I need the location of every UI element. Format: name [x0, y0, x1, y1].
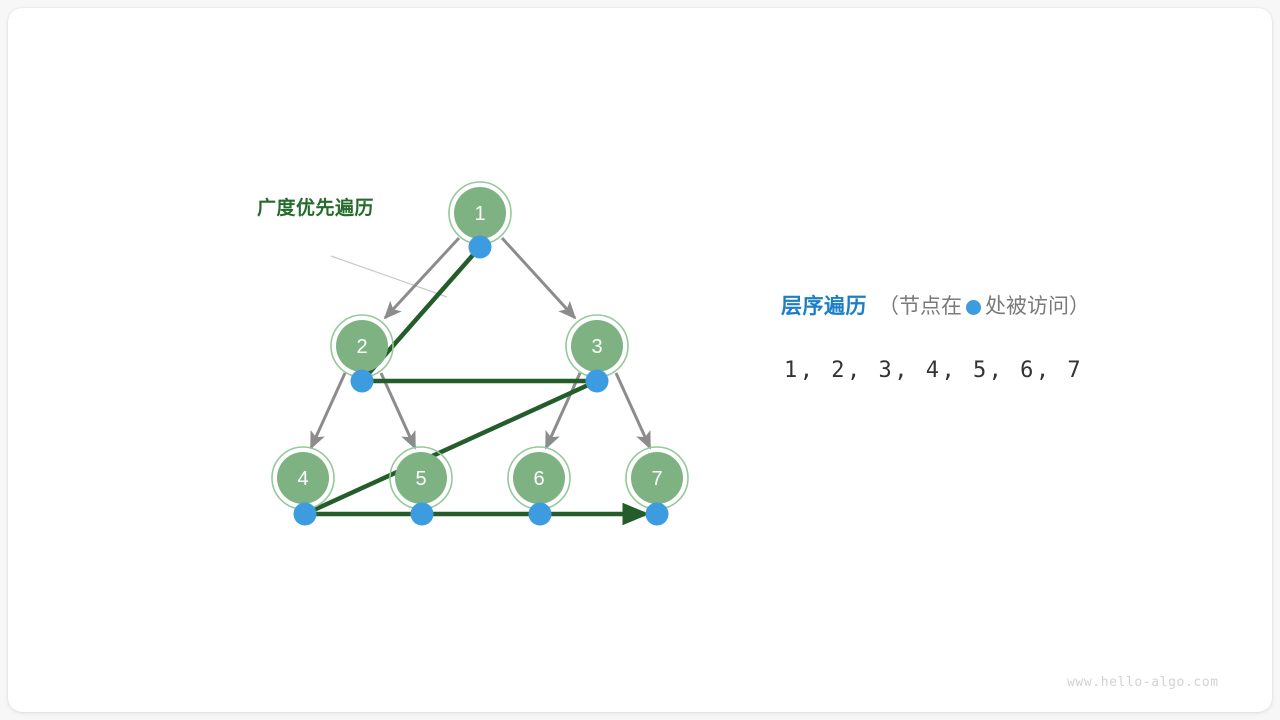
tree-edge-2-5 [381, 373, 415, 448]
traversal-result-panel: 层序遍历 （节点在 处被访问） 1, 2, 3, 4, 5, 6, 7 [781, 296, 1201, 317]
tree-node-7[interactable]: 7 [626, 447, 688, 509]
node-label: 6 [533, 468, 544, 490]
visit-marker-dot-icon [966, 300, 981, 315]
visit-dot-node-5[interactable] [411, 503, 434, 526]
node-label: 7 [651, 468, 662, 490]
note-text-after: 处被访问） [985, 296, 1090, 317]
site-watermark: www.hello-algo.com [1067, 675, 1219, 690]
node-label: 3 [591, 336, 602, 358]
note-text-before: （节点在 [878, 296, 962, 317]
bfs-annotation-label: 广度优先遍历 [257, 193, 374, 220]
tree-node-2[interactable]: 2 [331, 315, 393, 377]
tree-edge-1-3 [502, 238, 575, 318]
node-label: 5 [415, 468, 426, 490]
bfs-tree-diagram: 1 2 3 4 5 6 7 [0, 0, 1280, 720]
tree-node-3[interactable]: 3 [566, 315, 628, 377]
tree-node-6[interactable]: 6 [508, 447, 570, 509]
visit-dot-node-6[interactable] [529, 503, 552, 526]
tree-node-5[interactable]: 5 [390, 447, 452, 509]
traversal-heading-note: （节点在 处被访问） [878, 296, 1090, 317]
visit-dot-node-3[interactable] [586, 370, 609, 393]
visit-dot-node-7[interactable] [646, 503, 669, 526]
tree-edge-2-4 [311, 373, 345, 448]
traversal-sequence: 1, 2, 3, 4, 5, 6, 7 [784, 358, 1083, 383]
tree-node-4[interactable]: 4 [272, 447, 334, 509]
visit-dot-node-4[interactable] [294, 503, 317, 526]
visit-dot-node-1[interactable] [469, 236, 492, 259]
tree-edge-1-2 [385, 238, 459, 318]
page-canvas: 1 2 3 4 5 6 7 [0, 0, 1280, 720]
node-label: 2 [356, 336, 367, 358]
traversal-heading: 层序遍历 （节点在 处被访问） [781, 296, 1201, 317]
traversal-heading-title: 层序遍历 [781, 296, 867, 317]
node-label: 1 [474, 203, 485, 225]
node-label: 4 [297, 468, 308, 490]
visit-dot-node-2[interactable] [351, 370, 374, 393]
annotation-leader-line [331, 256, 447, 297]
tree-node-1[interactable]: 1 [449, 182, 511, 244]
tree-edge-3-7 [616, 373, 650, 448]
tree-edge-3-6 [546, 373, 580, 448]
